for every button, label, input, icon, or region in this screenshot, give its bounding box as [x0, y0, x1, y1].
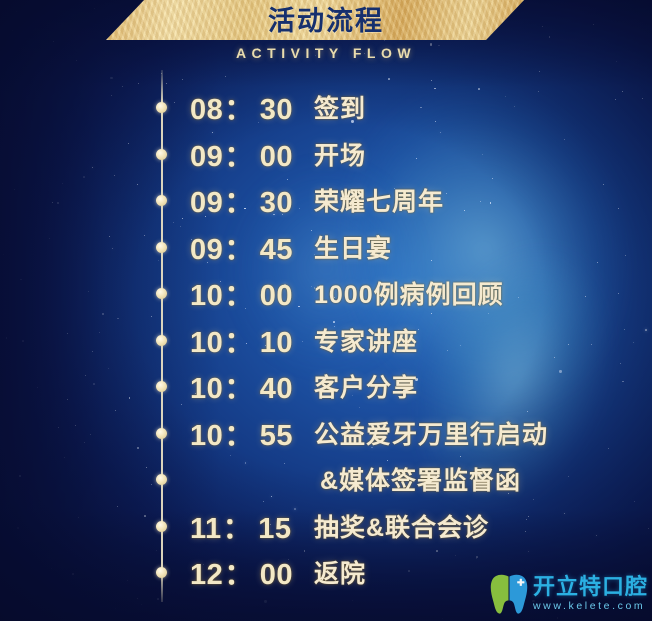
time-hour: 08: [190, 94, 223, 126]
schedule-time: 10：10: [190, 319, 314, 361]
schedule-title-line2: &媒体签署监督函: [320, 461, 521, 497]
schedule-title: 公益爱牙万里行启动: [314, 415, 548, 451]
time-colon: ：: [223, 373, 260, 405]
schedule-title: 1000例病例回顾: [314, 275, 504, 311]
time-hour: 12: [190, 559, 223, 591]
schedule-row: 09：45生日宴: [190, 225, 392, 269]
schedule-title: 抽奖&联合会诊: [314, 508, 489, 544]
time-minute: 15: [258, 513, 291, 545]
watermark-logo: 开立特口腔 www.kelete.com: [489, 573, 648, 615]
time-hour: 11: [190, 513, 222, 545]
time-minute: 00: [260, 559, 293, 591]
time-minute: 55: [260, 420, 293, 452]
schedule-time: 10：00: [190, 272, 314, 314]
timeline-dot: [156, 242, 167, 253]
schedule-row: 10：55公益爱牙万里行启动: [190, 411, 548, 455]
timeline-dot: [156, 521, 167, 532]
schedule-time: 11：15: [190, 505, 314, 547]
time-colon: ：: [223, 94, 260, 126]
time-hour: 10: [190, 373, 223, 405]
schedule-time: 09：30: [190, 179, 314, 221]
schedule-title: 生日宴: [314, 229, 392, 265]
schedule-title: 返院: [314, 554, 366, 590]
activity-flow-poster: 活动流程 ACTIVITY FLOW 08：30签到09：00开场09：30荣耀…: [0, 0, 652, 621]
timeline-dot: [156, 335, 167, 346]
schedule-row: 08：30签到: [190, 85, 366, 129]
brand-name: 开立特口腔: [533, 576, 648, 598]
brand-url: www.kelete.com: [533, 601, 648, 612]
time-hour: 10: [190, 280, 223, 312]
timeline-dot: [156, 381, 167, 392]
page-subtitle: ACTIVITY FLOW: [0, 45, 652, 61]
tooth-logo-icon: [489, 573, 529, 615]
schedule-title: 专家讲座: [314, 322, 418, 358]
schedule-row: 09：00开场: [190, 132, 366, 176]
timeline-dot: [156, 195, 167, 206]
schedule-row: 09：30荣耀七周年: [190, 178, 444, 222]
time-hour: 09: [190, 187, 223, 219]
schedule-time: 09：00: [190, 133, 314, 175]
schedule-row-continuation: &媒体签署监督函: [320, 457, 521, 501]
page-title: 活动流程: [0, 1, 652, 41]
time-colon: ：: [223, 280, 260, 312]
time-colon: ：: [223, 327, 260, 359]
time-hour: 10: [190, 327, 223, 359]
time-minute: 40: [260, 373, 293, 405]
timeline-dot: [156, 102, 167, 113]
time-minute: 30: [260, 187, 293, 219]
schedule-title: 客户分享: [314, 368, 418, 404]
schedule-title: 签到: [314, 89, 366, 125]
time-hour: 09: [190, 234, 223, 266]
time-minute: 45: [260, 234, 293, 266]
time-minute: 30: [260, 94, 293, 126]
schedule-time: 08：30: [190, 86, 314, 128]
schedule-row: 10：10专家讲座: [190, 318, 418, 362]
schedule-time: 09：45: [190, 226, 314, 268]
timeline-dot: [156, 567, 167, 578]
time-hour: 09: [190, 141, 223, 173]
timeline-dot: [156, 474, 167, 485]
time-minute: 00: [260, 141, 293, 173]
schedule-time: 12：00: [190, 551, 314, 593]
watermark-text: 开立特口腔 www.kelete.com: [533, 576, 648, 612]
time-colon: ：: [223, 187, 260, 219]
schedule-title: 开场: [314, 136, 366, 172]
time-hour: 10: [190, 420, 223, 452]
time-minute: 10: [260, 327, 293, 359]
time-colon: ：: [223, 420, 260, 452]
schedule-row: 10：40客户分享: [190, 364, 418, 408]
schedule-time: 10：40: [190, 365, 314, 407]
time-colon: ：: [223, 141, 260, 173]
schedule-time: 10：55: [190, 412, 314, 454]
time-colon: ：: [222, 513, 259, 545]
schedule-row: 11：15抽奖&联合会诊: [190, 504, 489, 548]
time-colon: ：: [223, 234, 260, 266]
schedule-title: 荣耀七周年: [314, 182, 444, 218]
timeline-dot: [156, 428, 167, 439]
timeline-dot: [156, 149, 167, 160]
timeline-dot: [156, 288, 167, 299]
schedule-row: 12：00返院: [190, 550, 366, 594]
time-minute: 00: [260, 280, 293, 312]
time-colon: ：: [223, 559, 260, 591]
schedule-row: 10：001000例病例回顾: [190, 271, 504, 315]
